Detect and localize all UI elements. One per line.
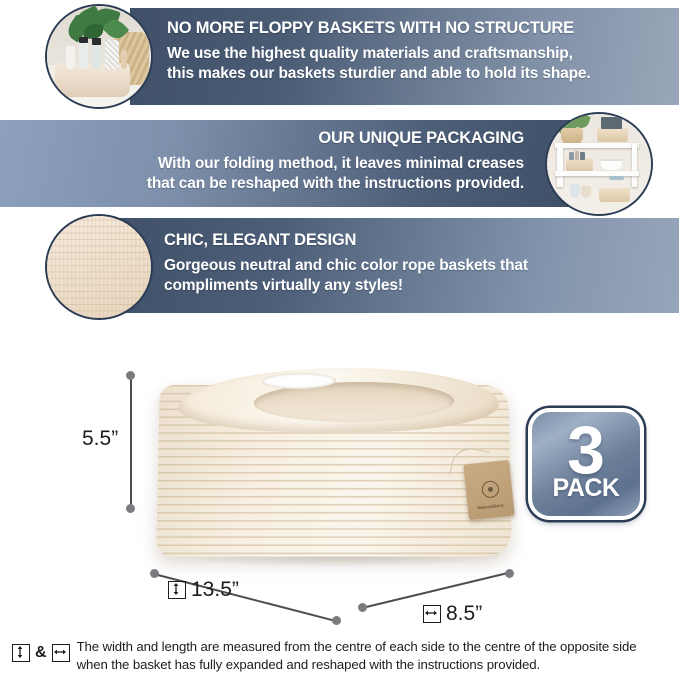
feature-2-body-line-2: that can be reshaped with the instructio… xyxy=(14,174,524,194)
feature-1-body-line-2: this makes our baskets sturdier and able… xyxy=(167,64,665,84)
width-dimension-label: 8.5” xyxy=(423,602,482,626)
width-dimension-value: 8.5” xyxy=(446,602,482,626)
feature-banner-3: CHIC, ELEGANT DESIGN Gorgeous neutral an… xyxy=(107,218,679,313)
feature-2-body-line-1: With our folding method, it leaves minim… xyxy=(14,154,524,174)
pack-count-word: PACK xyxy=(553,476,620,501)
height-dimension-dot-bottom xyxy=(126,504,135,513)
feature-3-body-line-1: Gorgeous neutral and chic color rope bas… xyxy=(164,256,665,276)
feature-1-title: NO MORE FLOPPY BASKETS WITH NO STRUCTURE xyxy=(167,18,665,39)
length-dimension-value: 13.5” xyxy=(191,578,239,602)
height-dimension-label: 5.5” xyxy=(82,427,118,451)
length-dimension-label: 13.5” xyxy=(168,578,239,602)
hang-tag-brand: NatureStory xyxy=(468,502,514,512)
width-dimension-dot-end xyxy=(505,569,514,578)
shelf-with-baskets-photo xyxy=(545,112,653,216)
length-dimension-dot-start xyxy=(150,569,159,578)
horizontal-double-arrow-icon xyxy=(52,644,70,662)
width-dimension-dot-start xyxy=(358,603,367,612)
vertical-double-arrow-icon xyxy=(168,581,186,599)
feature-1-body-line-1: We use the highest quality materials and… xyxy=(167,44,665,64)
length-dimension-dot-end xyxy=(332,616,341,625)
measurement-footnote: & The width and length are measured from… xyxy=(12,638,672,674)
pack-count-number: 3 xyxy=(567,423,605,479)
feature-1-body: We use the highest quality materials and… xyxy=(167,44,665,84)
pack-count-badge: 3 PACK xyxy=(528,408,644,520)
feature-3-title: CHIC, ELEGANT DESIGN xyxy=(164,230,665,251)
feature-2-body: With our folding method, it leaves minim… xyxy=(14,154,524,194)
height-dimension-line xyxy=(130,378,132,508)
horizontal-double-arrow-icon xyxy=(423,605,441,623)
height-dimension-dot-top xyxy=(126,371,135,380)
feature-3-body: Gorgeous neutral and chic color rope bas… xyxy=(164,256,665,296)
footnote-line-2: when the basket has fully expanded and r… xyxy=(77,656,637,674)
feature-banner-1: NO MORE FLOPPY BASKETS WITH NO STRUCTURE… xyxy=(130,8,679,105)
vertical-double-arrow-icon xyxy=(12,644,30,662)
footnote-line-1: The width and length are measured from t… xyxy=(77,638,637,656)
feature-2-title: OUR UNIQUE PACKAGING xyxy=(14,128,524,149)
basket-with-plants-photo xyxy=(45,4,153,109)
footnote-icons: & xyxy=(12,638,70,662)
footnote-ampersand: & xyxy=(35,644,47,662)
feature-3-body-line-2: compliments virtually any styles! xyxy=(164,276,665,296)
feature-banner-2: OUR UNIQUE PACKAGING With our folding me… xyxy=(0,120,570,207)
hang-tag: NatureStory xyxy=(463,460,515,521)
brand-logo-icon xyxy=(481,480,500,499)
rope-texture-photo xyxy=(45,214,153,320)
footnote-text: The width and length are measured from t… xyxy=(77,638,637,674)
